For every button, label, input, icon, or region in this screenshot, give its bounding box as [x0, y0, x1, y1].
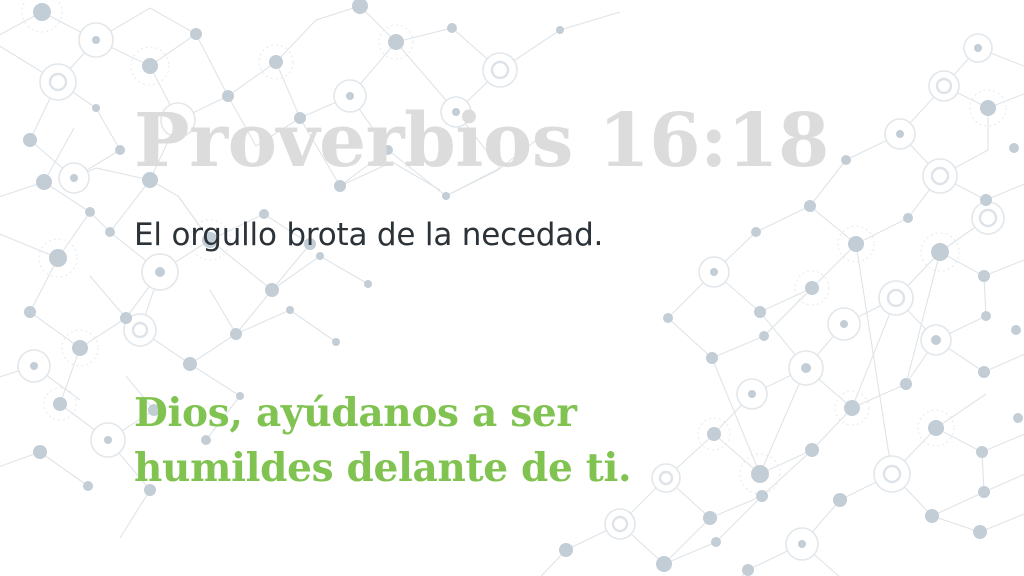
verse-reference: Proverbios 16:18	[134, 104, 829, 178]
slide-canvas: Proverbios 16:18 El orgullo brota de la …	[0, 0, 1024, 576]
verse-text: El orgullo brota de la necedad.	[134, 216, 603, 255]
slide-content: Proverbios 16:18 El orgullo brota de la …	[134, 0, 894, 576]
prayer-text: Dios, ayúdanos a ser humildes delante de…	[134, 386, 694, 497]
